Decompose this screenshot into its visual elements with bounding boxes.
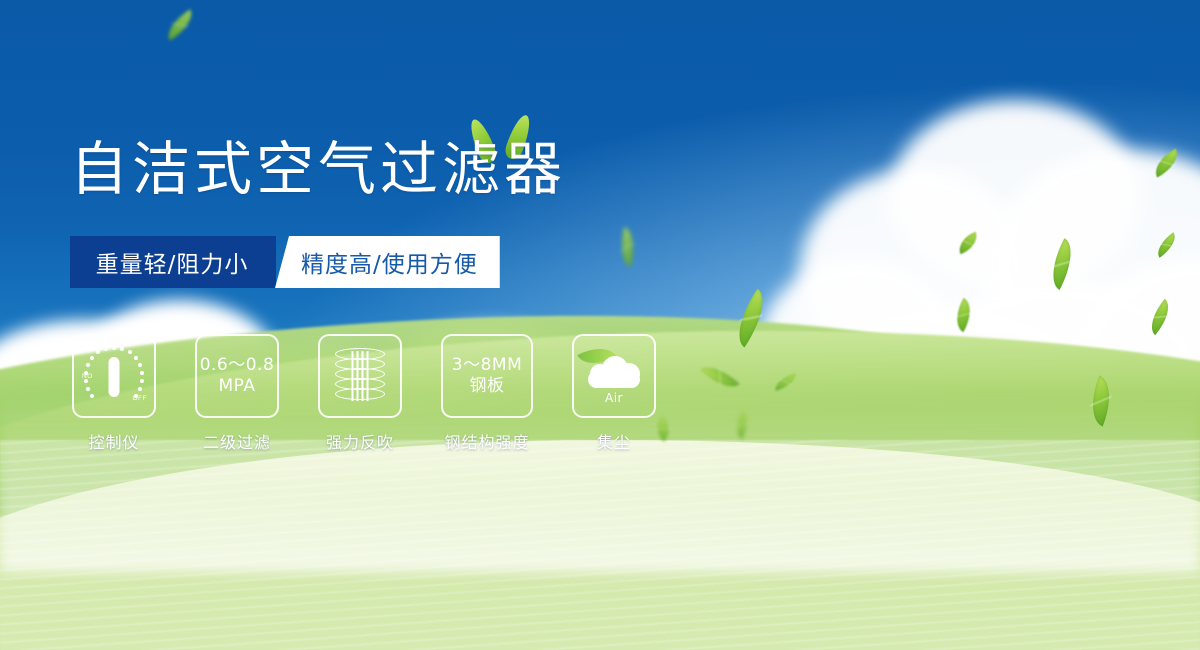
feature-item-dust-collection[interactable]: Air 集尘	[574, 334, 654, 453]
feature-item-steel-strength[interactable]: 3～8MM 钢板 钢结构强度	[443, 334, 531, 453]
feature-label: 控制仪	[88, 429, 139, 453]
control-gauge-icon: NO OFF	[83, 345, 145, 407]
pressure-icon-box: 0.6～0.8 MPA	[195, 334, 279, 418]
steel-plate-text-icon: 3～8MM 钢板	[452, 355, 522, 396]
blowback-icon-box	[318, 334, 402, 418]
feature-label: 二级过滤	[203, 429, 271, 453]
air-cloud-icon: Air	[584, 350, 644, 402]
feature-label: 钢结构强度	[444, 429, 529, 453]
subtitle-badge-left: 重量轻/阻力小	[70, 236, 276, 288]
feature-label: 强力反吹	[326, 429, 394, 453]
feature-item-controller[interactable]: NO OFF 控制仪	[74, 334, 154, 453]
feature-label: 集尘	[597, 429, 631, 453]
pressure-text-icon: 0.6～0.8 MPA	[200, 355, 275, 396]
pressure-range-value: 0.6～0.8	[200, 355, 275, 375]
steel-thickness-value: 3～8MM	[452, 355, 522, 375]
feature-icon-row: NO OFF 控制仪 0.6～0.8 MPA 二级过滤	[74, 334, 654, 453]
subtitle-badge-right: 精度高/使用方便	[275, 236, 500, 288]
feature-item-secondary-filter[interactable]: 0.6～0.8 MPA 二级过滤	[197, 334, 277, 453]
page-title: 自洁式空气过滤器	[70, 140, 566, 198]
feature-item-blowback[interactable]: 强力反吹	[320, 334, 400, 453]
controller-icon-box: NO OFF	[72, 334, 156, 418]
gauge-no-label: NO	[82, 373, 93, 380]
air-icon-box: Air	[572, 334, 656, 418]
blowback-spiral-icon	[332, 347, 388, 405]
steel-material-value: 钢板	[452, 376, 522, 397]
gauge-off-label: OFF	[133, 395, 148, 402]
hero-banner: 自洁式空气过滤器 重量轻/阻力小 精度高/使用方便	[0, 0, 1200, 650]
pressure-unit-value: MPA	[200, 376, 275, 397]
subtitle-badge-group: 重量轻/阻力小 精度高/使用方便	[70, 236, 500, 288]
air-label: Air	[584, 391, 644, 405]
steel-icon-box: 3～8MM 钢板	[441, 334, 533, 418]
